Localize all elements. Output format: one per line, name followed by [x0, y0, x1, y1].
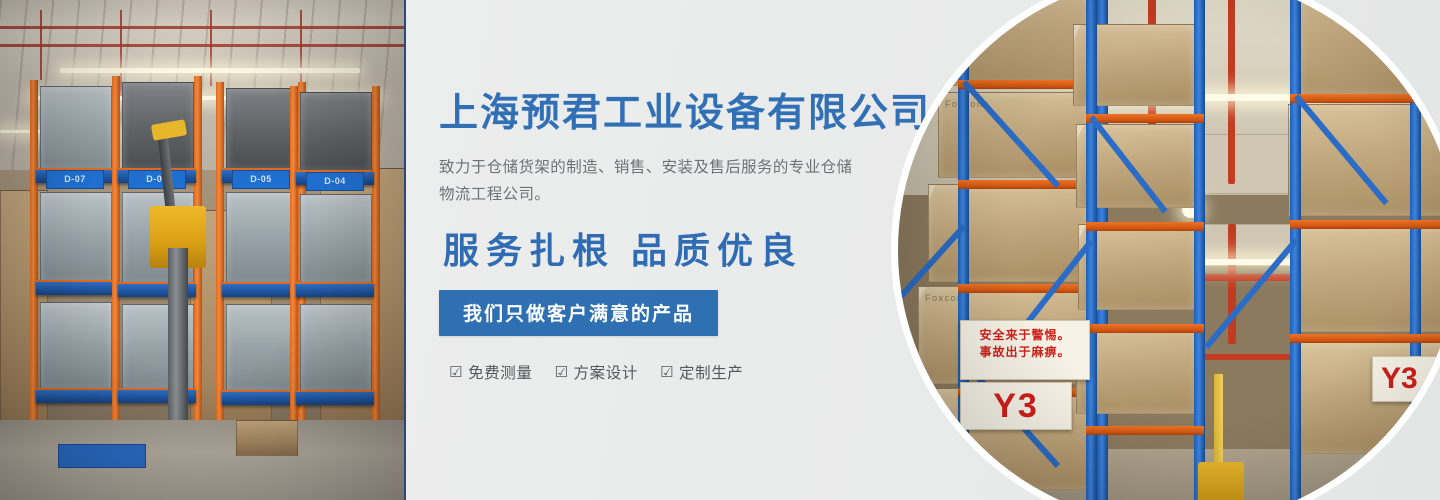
rack-brace: [962, 80, 1060, 188]
feature-item-custom-manufacturing: ☑ 定制生产: [660, 361, 743, 383]
feature-item-solution-design: ☑ 方案设计: [554, 361, 637, 383]
forklift-mast: [1214, 374, 1223, 472]
rack-beam: [1086, 324, 1204, 333]
forklift-truck: [150, 128, 206, 458]
aisle-location-sign-edge: Y3: [1372, 356, 1440, 402]
pallet-load: [40, 302, 112, 390]
safety-warning-sign: 安全来于警惕。 事故出于麻痹。: [960, 320, 1090, 380]
right-photo-content: Foxconn Foxconn Foxconn: [898, 0, 1440, 500]
ceiling-pipe: [0, 26, 404, 29]
rack-beam: [222, 390, 300, 405]
pallet-load: [300, 304, 372, 392]
pallet-load: [40, 86, 112, 170]
rack-label: D-04: [306, 172, 364, 191]
floor-pallet: [58, 444, 146, 468]
feature-label: 方案设计: [574, 361, 638, 383]
right-warehouse-photo: Foxconn Foxconn Foxconn: [898, 0, 1440, 500]
rack-upright: [1410, 0, 1421, 500]
feature-item-free-measurement: ☑ 免费测量: [449, 361, 532, 383]
aisle-location-sign: Y3: [960, 382, 1072, 430]
pallet-load: [226, 88, 298, 170]
pallet-load: [226, 304, 298, 392]
checkbox-checked-icon: ☑: [449, 365, 463, 380]
rack-label: D-07: [46, 170, 104, 189]
safety-sign-line-2: 事故出于麻痹。: [961, 344, 1089, 361]
ceiling-drop: [210, 10, 212, 86]
pallet-load: [300, 92, 372, 172]
rack-beam: [296, 282, 374, 297]
floor-carton: [236, 420, 298, 456]
rack-beam: [296, 390, 374, 405]
cta-button[interactable]: 我们只做客户满意的产品: [439, 290, 718, 336]
rack-beam: [1086, 222, 1204, 231]
ceiling-pipe: [0, 44, 404, 47]
rack-beam: [1290, 220, 1440, 229]
rack-brace: [1294, 94, 1389, 205]
rack-label: D-05: [232, 170, 290, 189]
forklift-body: [1198, 462, 1244, 500]
left-warehouse-photo: D-07 D-06 D-05: [0, 0, 406, 500]
feature-label: 免费测量: [468, 361, 532, 383]
ceiling-light: [60, 68, 360, 73]
safety-sign-line-1: 安全来于警惕。: [961, 327, 1089, 344]
rack-beam: [36, 388, 114, 403]
pallet-load: [226, 192, 298, 284]
pallet-rack-right: [1290, 0, 1440, 500]
sprinkler-pipe: [1228, 224, 1236, 344]
hero-banner: D-07 D-06 D-05: [0, 0, 1440, 500]
company-subtitle: 致力于仓储货架的制造、销售、安装及售后服务的专业仓储物流工程公司。: [439, 154, 859, 208]
rack-beam: [1290, 94, 1440, 103]
checkbox-checked-icon: ☑: [554, 365, 568, 380]
company-title: 上海预君工业设备有限公司: [439, 92, 959, 137]
pallet-rack-mid-left: [1086, 0, 1204, 500]
rack-brace: [1089, 115, 1168, 213]
rack-beam: [222, 282, 300, 297]
pallet-load: [40, 192, 112, 282]
sprinkler-pipe: [1228, 0, 1235, 184]
rack-beam: [1086, 426, 1204, 435]
ceiling-drop: [40, 10, 42, 80]
copy-block: 上海预君工业设备有限公司 致力于仓储货架的制造、销售、安装及售后服务的专业仓储物…: [439, 92, 959, 383]
feature-label: 定制生产: [679, 361, 743, 383]
rack-beam: [1086, 114, 1204, 123]
checkbox-checked-icon: ☑: [660, 365, 674, 380]
pallet-load: [300, 194, 372, 284]
forklift-truck: [1198, 374, 1244, 500]
company-slogan: 服务扎根 品质优良: [443, 222, 959, 274]
rack-beam: [36, 280, 114, 295]
feature-list: ☑ 免费测量 ☑ 方案设计 ☑ 定制生产: [439, 361, 959, 383]
rack-beam: [1290, 334, 1440, 343]
